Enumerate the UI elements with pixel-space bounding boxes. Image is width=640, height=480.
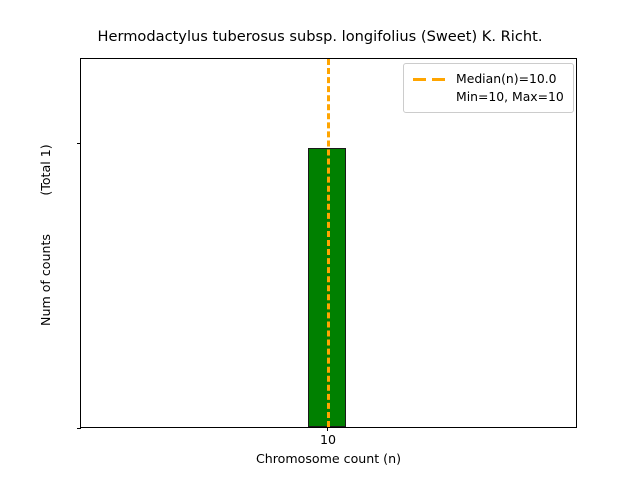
legend-label-median: Median(n)=10.0 — [456, 70, 564, 87]
xtick-mark-10 — [327, 427, 328, 431]
legend[interactable]: Median(n)=10.0 Min=10, Max=10 — [403, 63, 574, 113]
median-line — [327, 59, 330, 427]
page-title: Hermodactylus tuberosus subsp. longifoli… — [0, 28, 640, 46]
xtick-label-10: 10 — [288, 433, 368, 446]
figure-canvas: Hermodactylus tuberosus subsp. longifoli… — [0, 0, 640, 480]
y-axis-label: Num of counts — [39, 234, 53, 326]
ytick-mark-1 — [77, 143, 81, 144]
ytick-mark-0 — [77, 428, 81, 429]
legend-dash-icon — [413, 72, 447, 87]
x-axis-label: Chromosome count (n) — [80, 452, 577, 466]
plot-axes: 0 1 10 Median(n)=10.0 Min=10, Max=10 — [80, 58, 577, 428]
y-axis-label-total: (Total 1) — [39, 144, 53, 195]
legend-label-minmax: Min=10, Max=10 — [456, 88, 564, 105]
legend-labels: Median(n)=10.0 Min=10, Max=10 — [456, 70, 564, 105]
plot-area — [81, 59, 576, 427]
